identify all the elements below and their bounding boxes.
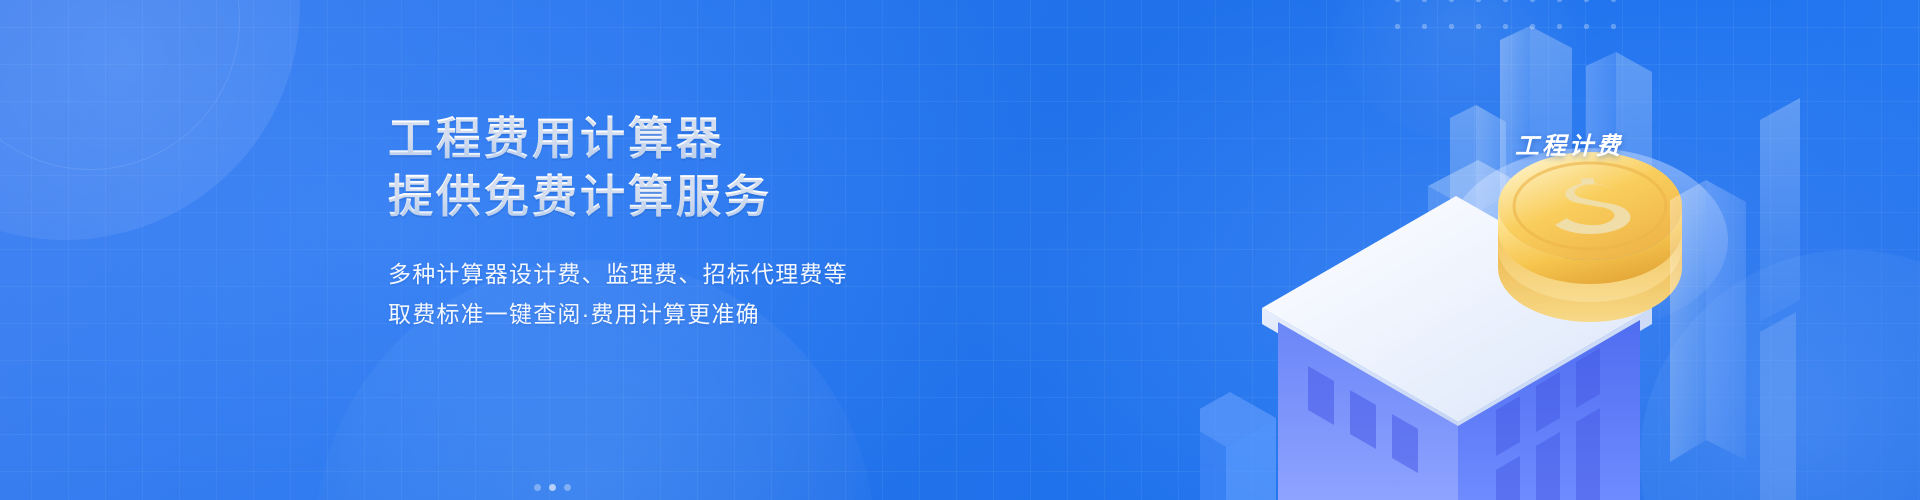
carousel-dot-2[interactable] [549,484,556,491]
illustration-engineering-fee: 工程计费 [1200,0,1920,500]
floating-block-lower-left [1200,392,1276,500]
carousel-dot-3[interactable] [564,484,571,491]
subtitle-line-1: 多种计算器设计费、监理费、招标代理费等 [388,254,1008,294]
headline-line-1: 工程费用计算器 [388,112,1008,166]
hero-banner: 工程计费 工程费用计算器 提供免费计算服务 多种计算器设计费、监理费、招标代理费… [0,0,1920,500]
coin-top-face [1498,152,1682,260]
carousel-pagination[interactable] [534,484,571,491]
headline-line-2: 提供免费计算服务 [388,170,1008,224]
illustration-label: 工程计费 [1515,126,1623,161]
subtitle-line-2: 取费标准一键查阅·费用计算更准确 [388,294,1008,334]
carousel-dot-1[interactable] [534,484,541,491]
gold-coin-stack [1498,152,1682,322]
hero-copy-block: 工程费用计算器 提供免费计算服务 多种计算器设计费、监理费、招标代理费等 取费标… [388,112,1008,334]
